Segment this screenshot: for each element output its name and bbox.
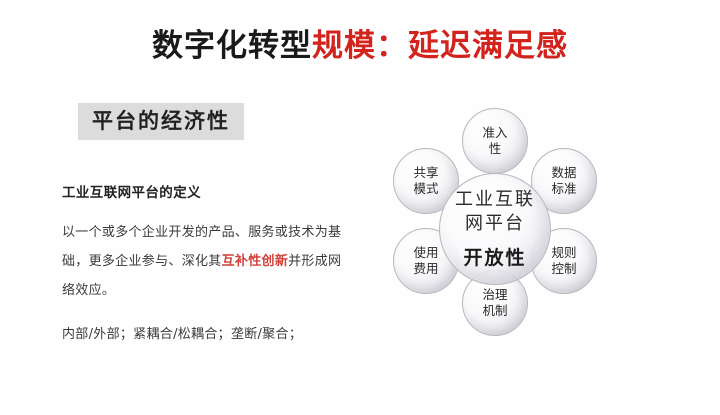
highlight-text-2: 创新	[262, 254, 289, 269]
bubble-access-line1: 准入	[482, 125, 507, 141]
body-paragraph: 以一个或多个企业开发的产品、服务或技术为基础，更多企业参与、深化其互补性创新并形…	[62, 218, 352, 305]
bubble-governance-line1: 治理	[482, 287, 507, 303]
bubble-access-line2: 性	[482, 141, 507, 157]
section-label: 平台的经济性	[78, 103, 244, 140]
bubble-usage-fee-line2: 费用	[413, 261, 438, 277]
bubble-sharing-model-line1: 共享	[413, 165, 438, 181]
bubble-usage-fee-line1: 使用	[413, 245, 438, 261]
body-heading: 工业互联网平台的定义	[62, 181, 201, 201]
bubble-governance-line2: 机制	[482, 303, 507, 319]
highlight-text-1: 互补性	[222, 254, 262, 269]
title-black-segment: 数字化转型	[152, 28, 312, 64]
slide-canvas: 数字化转型规模：延迟满足感 平台的经济性 工业互联网平台的定义 以一个或多个企业…	[0, 0, 720, 415]
bubble-rule-control-line2: 控制	[551, 261, 576, 277]
bubble-rule-control-line1: 规则	[551, 245, 576, 261]
bubble-data-standard-line2: 标准	[551, 181, 576, 197]
center-line1: 工业互联	[455, 188, 535, 212]
bubble-access: 准入 性	[462, 108, 528, 174]
body-tail-line: 内部/外部；紧耦合/松耦合；垄断/聚合；	[62, 326, 362, 344]
center-emphasis: 开放性	[463, 243, 526, 270]
title-red-segment: 规模：延迟满足感	[312, 28, 568, 64]
page-title: 数字化转型规模：延迟满足感	[0, 29, 720, 63]
center-line2: 网平台	[465, 212, 525, 236]
bubble-center-platform: 工业互联 网平台 开放性	[439, 173, 551, 285]
bubble-sharing-model-line2: 模式	[413, 181, 438, 197]
paragraph-line-1: 以一个或多个企业开发的产品、服务或技	[62, 225, 301, 240]
bubble-diagram: 准入 性 数据 标准 规则 控制 治理 机制 使用 费用	[370, 98, 620, 360]
bubble-data-standard-line1: 数据	[551, 165, 576, 181]
